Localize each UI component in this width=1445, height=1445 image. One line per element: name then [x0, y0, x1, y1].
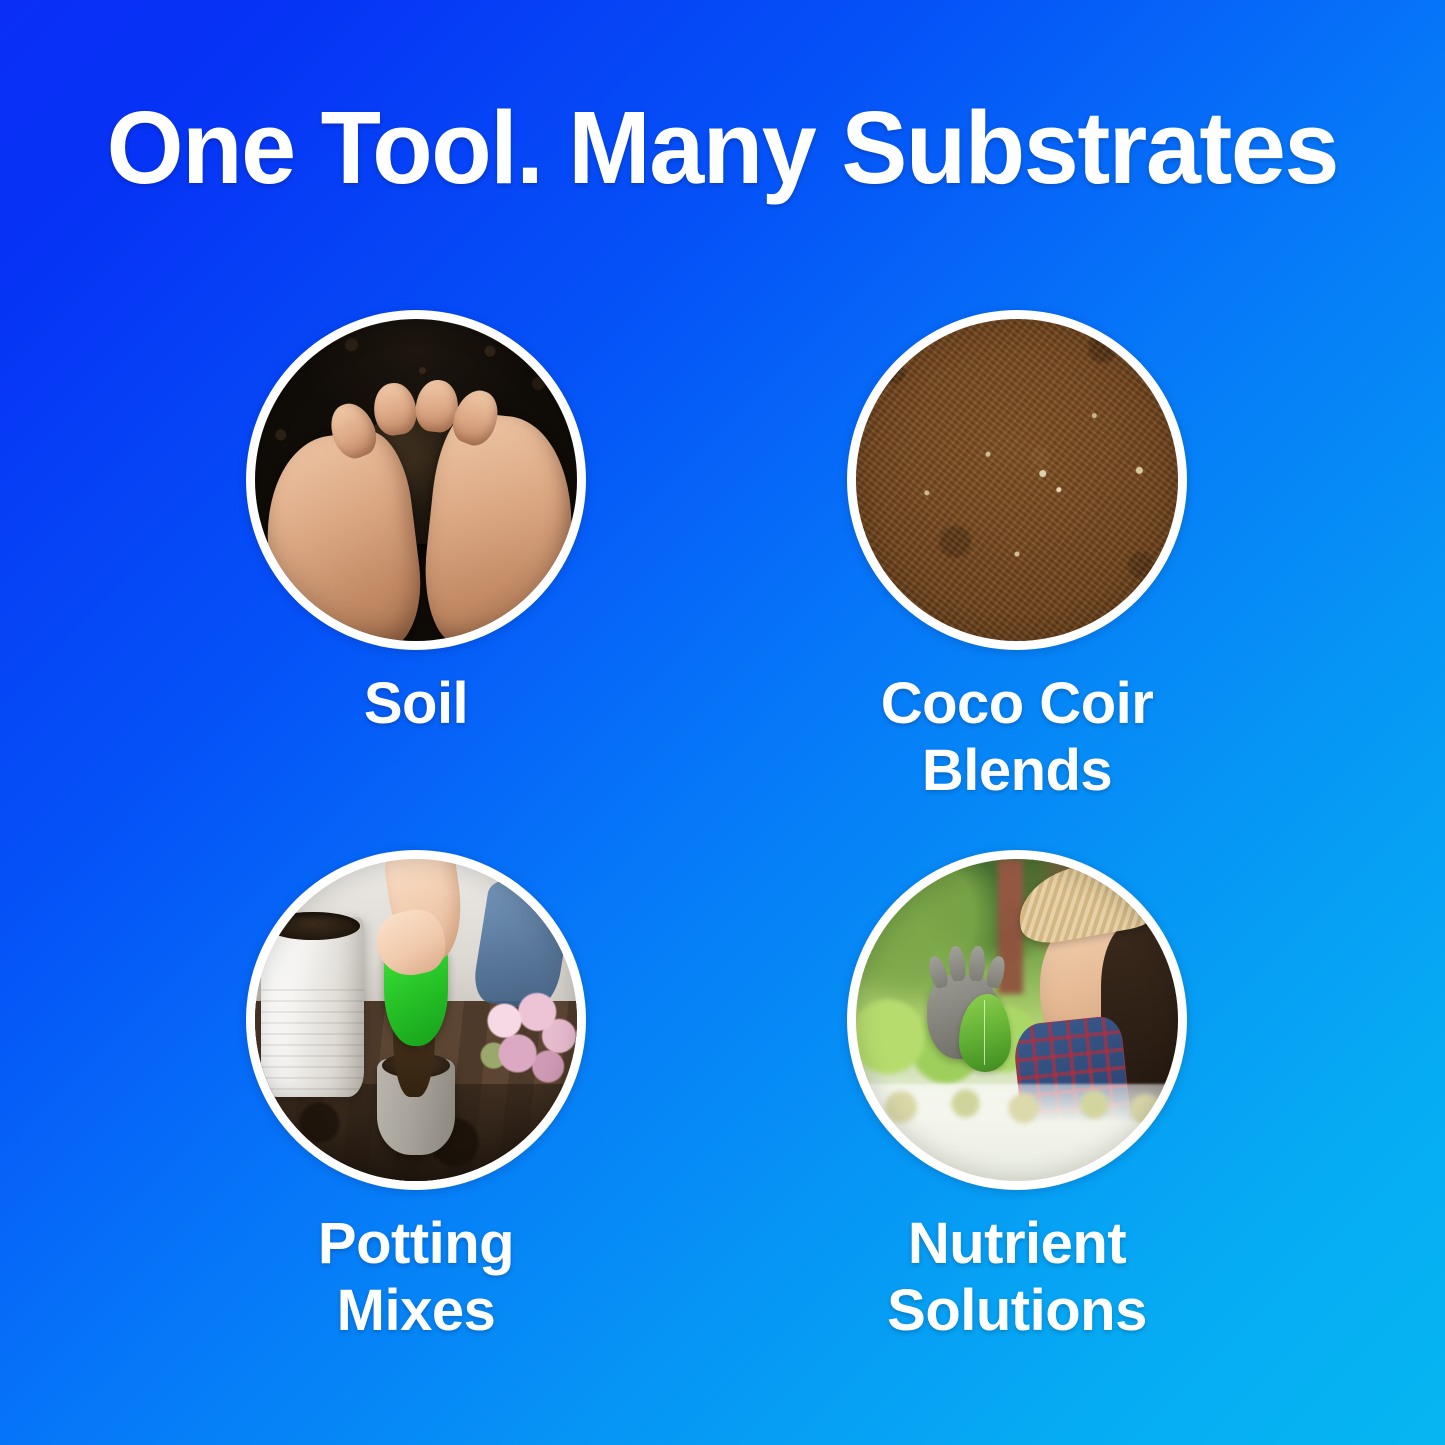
title-bar: One Tool. Many Substrates	[0, 96, 1445, 199]
substrate-card-coco-coir-blends[interactable]: Coco Coir Blends	[807, 310, 1227, 805]
photo-ring-coco-coir	[847, 310, 1187, 650]
white-ceramic-pot	[261, 917, 364, 1097]
page-title: One Tool. Many Substrates	[107, 96, 1338, 199]
substrate-label-nutrient-solutions: Nutrient Solutions	[807, 1210, 1227, 1345]
photo-ring-soil	[246, 310, 586, 650]
coir-light-flecks	[856, 319, 1178, 641]
tray-seedlings	[856, 1078, 1178, 1136]
coco-coir-texture-photo	[856, 319, 1178, 641]
hand-scooping-potting-mix-photo	[255, 859, 577, 1181]
substrate-label-soil: Soil	[206, 670, 626, 737]
hands-holding-dark-soil-photo	[255, 319, 577, 641]
substrate-grid: Soil Coco Coir Blends	[0, 310, 1445, 1430]
pink-foliage-plant	[474, 988, 577, 1097]
woman-tending-hydroponic-lettuce-photo	[856, 859, 1178, 1181]
substrate-card-potting-mixes[interactable]: Potting Mixes	[206, 850, 626, 1345]
substrate-card-nutrient-solutions[interactable]: Nutrient Solutions	[807, 850, 1227, 1345]
substrate-label-potting-mixes: Potting Mixes	[206, 1210, 626, 1345]
photo-ring-nutrient-solutions	[847, 850, 1187, 1190]
substrate-label-coco-coir-blends: Coco Coir Blends	[807, 670, 1227, 805]
substrates-infographic: One Tool. Many Substrates Soil	[0, 0, 1445, 1445]
substrate-card-soil[interactable]: Soil	[206, 310, 626, 737]
photo-ring-potting-mixes	[246, 850, 586, 1190]
